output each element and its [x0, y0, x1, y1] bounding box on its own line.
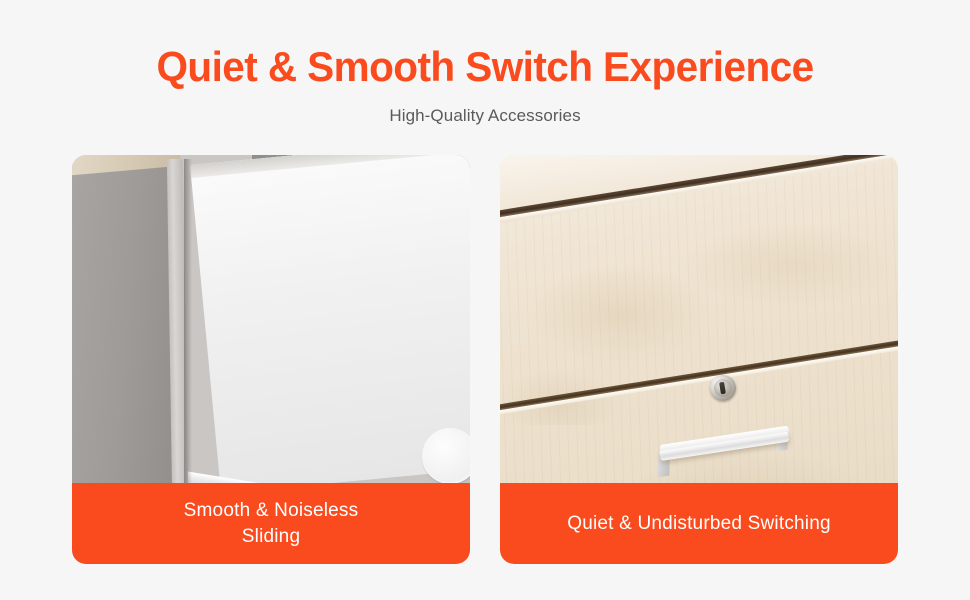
drawer-emboss-disc-upper [422, 428, 470, 484]
promo-banner: Quiet & Smooth Switch Experience High-Qu… [0, 0, 970, 600]
page-subtitle: High-Quality Accessories [0, 104, 970, 128]
feature-caption-text: Smooth & Noiseless Sliding [184, 498, 359, 550]
page-title: Quiet & Smooth Switch Experience [17, 41, 953, 93]
feature-card-switching[interactable]: Quiet & Undisturbed Switching [500, 155, 898, 564]
feature-caption-switching: Quiet & Undisturbed Switching [500, 483, 898, 564]
feature-card-list: Smooth & Noiseless Sliding [72, 155, 898, 564]
feature-caption-text: Quiet & Undisturbed Switching [567, 511, 831, 537]
feature-card-sliding[interactable]: Smooth & Noiseless Sliding [72, 155, 470, 564]
feature-caption-sliding: Smooth & Noiseless Sliding [72, 483, 470, 564]
